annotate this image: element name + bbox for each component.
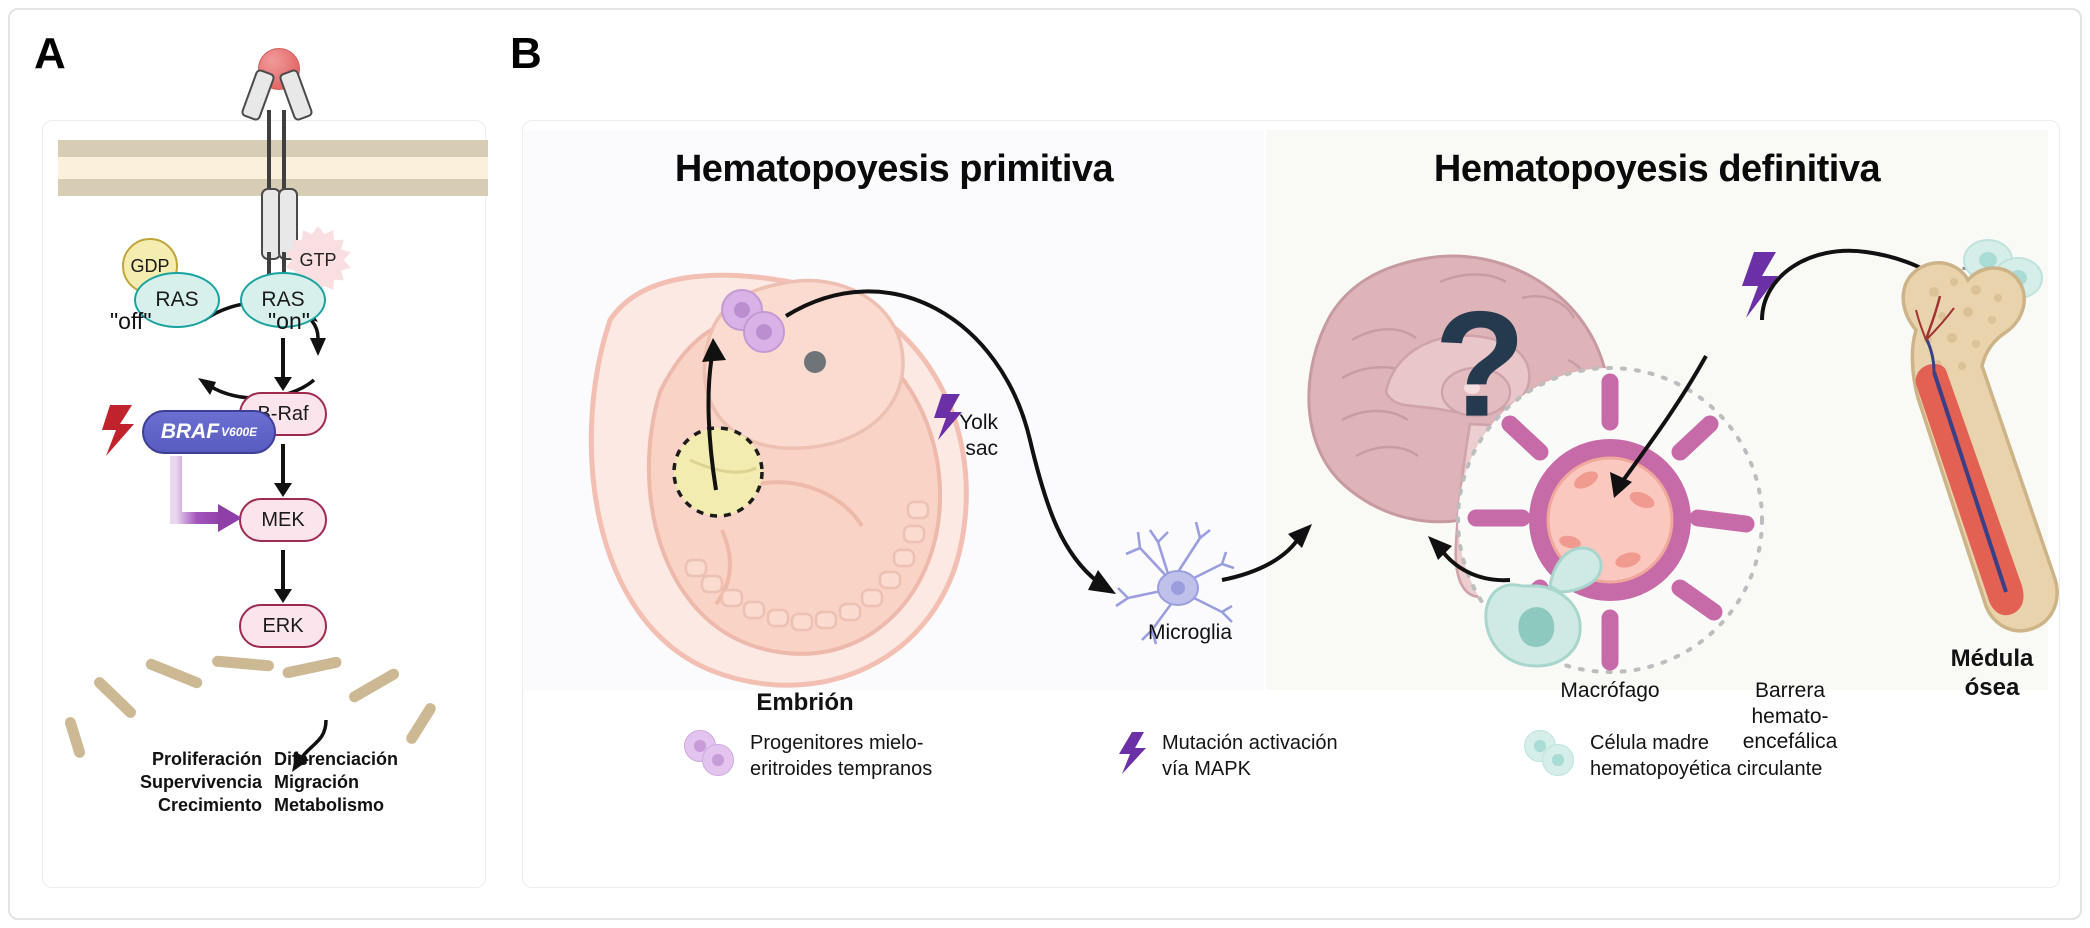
receptor-tail-right	[282, 252, 286, 274]
legend-label: Célula madre hematopoyética circulante	[1590, 730, 1822, 782]
panel-a-letter: A	[34, 32, 66, 76]
microglia-label: Microglia	[1110, 620, 1270, 646]
legend-item: Mutación activación vía MAPK	[1114, 730, 1338, 782]
braf-label: BRAF	[161, 420, 219, 444]
legend-item: Progenitores mielo- eritroides tempranos	[684, 730, 932, 782]
mek-node: MEK	[239, 498, 327, 542]
outcomes-left-text: Proliferación Supervivencia Crecimiento	[112, 748, 262, 817]
panel-b: B Hematopoyesis primitiva Hematopoyesis …	[510, 20, 2070, 890]
embryo-label: Embrión	[700, 688, 910, 717]
figure-root: A	[0, 0, 2090, 928]
yolk-sac-label: Yolk sac	[928, 410, 998, 461]
panel-a: A	[26, 20, 496, 890]
panel-b-letter: B	[510, 32, 542, 76]
receptor-tail-left	[267, 252, 271, 274]
primitive-hematopoiesis-region: Hematopoyesis primitiva	[524, 130, 1264, 690]
primitive-hematopoiesis-title: Hematopoyesis primitiva	[524, 148, 1264, 191]
ras-on-state-label: "on"	[268, 308, 310, 335]
braf-to-mek-arrow	[281, 444, 285, 484]
bone-marrow-label: Médula ósea	[1902, 644, 2082, 703]
teal-cell-pair-icon	[1524, 730, 1576, 774]
legend-item: Célula madre hematopoyética circulante	[1524, 730, 1822, 782]
macrophage-label: Macrófago	[1520, 678, 1700, 704]
purple-cell-pair-icon	[684, 730, 736, 774]
definitive-hematopoiesis-title: Hematopoyesis definitiva	[1266, 148, 2048, 191]
braf-mutation-superscript: V600E	[221, 425, 257, 439]
mek-to-erk-arrow	[281, 550, 285, 590]
legend-label: Mutación activación vía MAPK	[1162, 730, 1338, 782]
legend-label: Progenitores mielo- eritroides tempranos	[750, 730, 932, 782]
outcomes-right-text: Diferenciación Migración Metabolismo	[274, 748, 444, 817]
ras-to-braf-arrow	[281, 338, 285, 378]
figure-legend: Progenitores mielo- eritroides tempranos…	[524, 720, 2048, 830]
braf-v600e-node: BRAFV600E	[142, 410, 276, 454]
receptor-tyrosine-kinase-icon	[222, 48, 332, 248]
ras-off-state-label: "off"	[110, 308, 152, 335]
erk-node: ERK	[239, 604, 327, 648]
definitive-hematopoiesis-region: Hematopoyesis definitiva	[1266, 130, 2048, 690]
purple-lightning-bolt-icon	[1114, 730, 1148, 776]
receptor-stalk-right	[282, 110, 286, 196]
receptor-stalk-left	[267, 110, 271, 196]
